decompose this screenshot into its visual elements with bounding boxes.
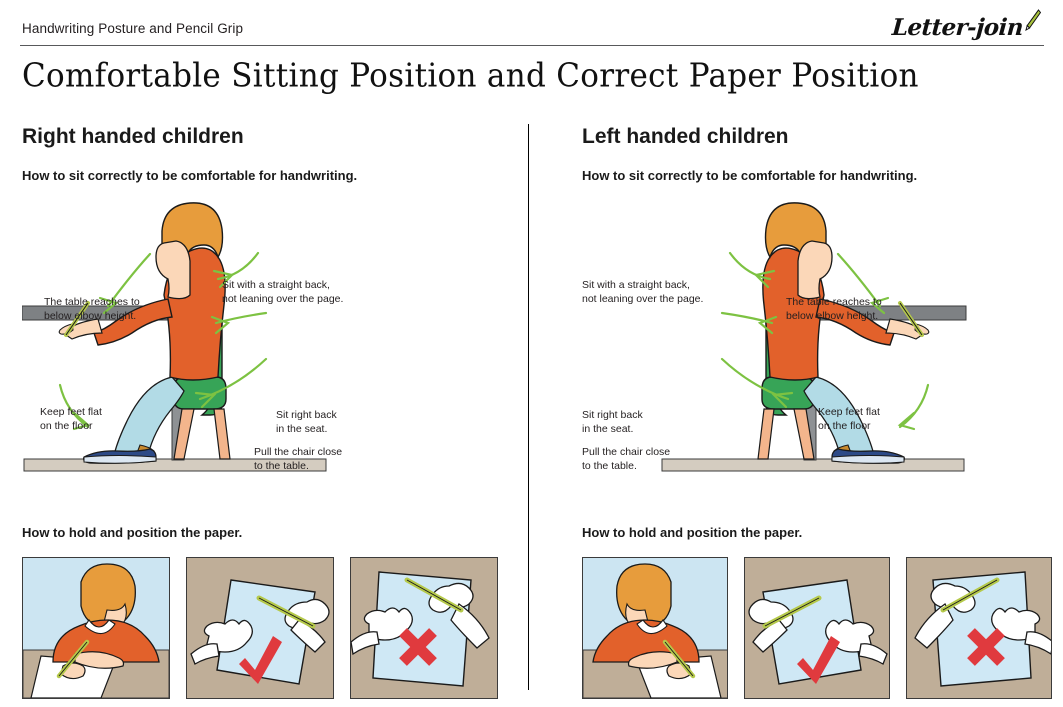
annotation-feet-flat: Keep feet flat on the floor [40,406,102,434]
left-column-subheading: How to sit correctly to be comfortable f… [22,168,512,183]
letter-join-logo: Letter-join [892,9,1041,39]
annotation-sit-right-back: Sit right back in the seat. [276,409,337,437]
left-handed-posture-illustration: Sit with a straight back, not leaning ov… [582,191,1052,491]
column-divider [528,124,529,690]
annotation-feet-flat: Keep feet flat on the floor [818,406,880,434]
panel-child-writing-right [22,557,170,699]
worksheet-page: Handwriting Posture and Pencil Grip Lett… [0,0,1063,707]
left-paper-heading: How to hold and position the paper. [22,525,512,540]
panel-paper-incorrect-right [350,557,498,699]
logo-wordmark: Letter-join [891,16,1023,39]
right-handed-column: Right handed children How to sit correct… [22,124,512,699]
panel-paper-correct-right [186,557,334,699]
header-title: Handwriting Posture and Pencil Grip [22,21,243,36]
floor [662,459,964,471]
annotation-pull-chair: Pull the chair close to the table. [582,446,670,474]
panel-child-writing-left [582,557,728,699]
right-column-subheading: How to sit correctly to be comfortable f… [582,168,1052,183]
left-handed-column: Left handed children How to sit correctl… [582,124,1052,699]
right-paper-heading: How to hold and position the paper. [582,525,1052,540]
pencil-icon [1024,9,1041,36]
shoe-sole [84,456,156,464]
left-paper-panels [22,557,512,699]
right-paper-panels [582,557,1052,699]
face [798,241,832,299]
annotation-straight-back: Sit with a straight back, not leaning ov… [582,279,703,307]
annotation-straight-back: Sit with a straight back, not leaning ov… [222,279,343,307]
chair-leg-back [758,409,774,459]
annotation-table-height: The table reaches to below elbow height. [44,296,140,324]
header-divider-rule [20,45,1044,46]
annotation-sit-right-back: Sit right back in the seat. [582,409,643,437]
right-handed-posture-illustration: The table reaches to below elbow height.… [22,191,512,491]
panel-paper-correct-left [744,557,890,699]
shoe-sole [832,456,904,464]
chair-leg-back [214,409,230,459]
annotation-pull-chair: Pull the chair close to the table. [254,446,342,474]
right-column-heading: Left handed children [582,124,1052,149]
panel-paper-incorrect-left [906,557,1052,699]
face [156,241,190,299]
page-title: Comfortable Sitting Position and Correct… [22,57,919,95]
annotation-table-height: The table reaches to below elbow height. [786,296,882,324]
left-column-heading: Right handed children [22,124,512,149]
